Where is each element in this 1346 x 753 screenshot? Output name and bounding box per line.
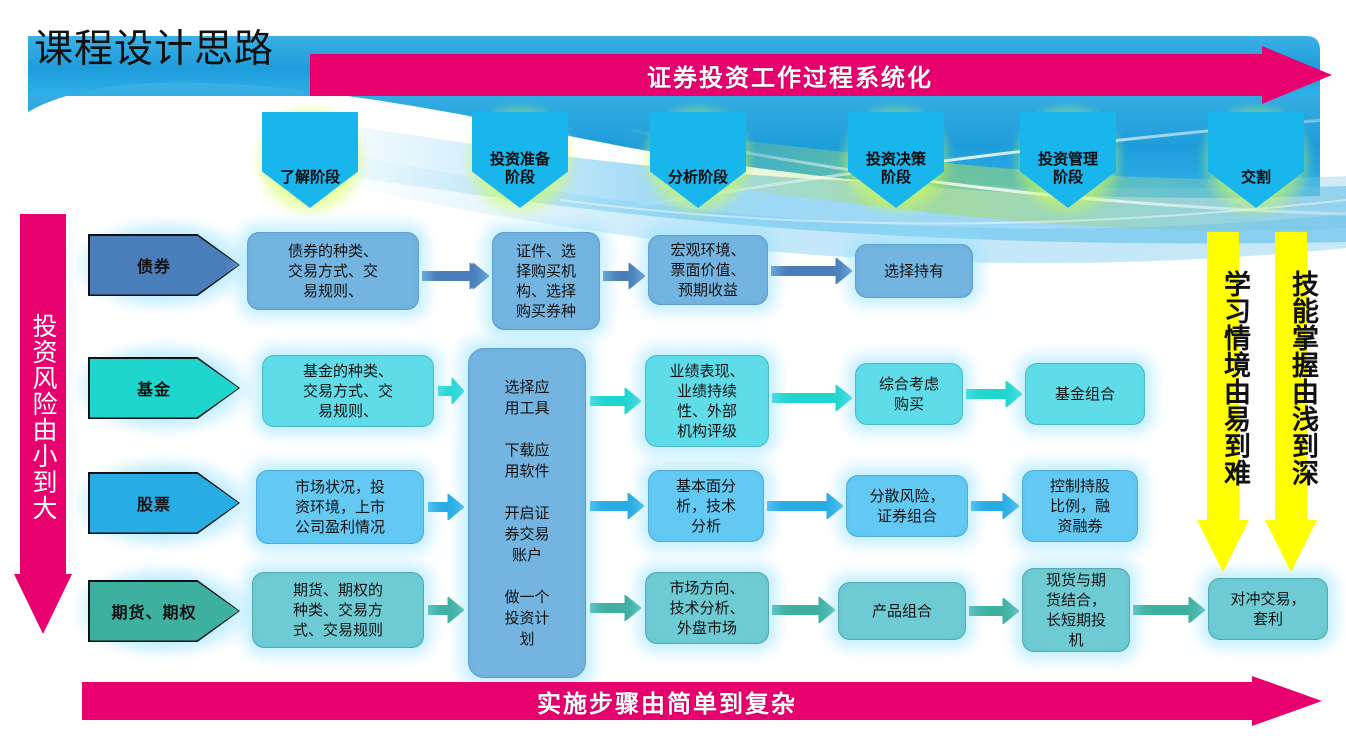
process-box-r2-4[interactable]: 基金组合 — [1025, 363, 1145, 425]
central-tools-label: 选择应 用工具 下载应 用软件 开启证 券交易 账户 做一个 投资计 划 — [504, 377, 549, 650]
box-label: 综合考虑 购买 — [879, 374, 939, 414]
stage-pentagon-6[interactable]: 交割 — [1208, 112, 1304, 208]
box-label: 业绩表现、 业绩持续 性、外部 机构评级 — [669, 361, 744, 441]
box-label: 证件、选 择购买机 构、选择 购买券种 — [516, 241, 576, 321]
box-label: 基金的种类、 交易方式、交 易规则、 — [303, 361, 393, 421]
right-banner-arrow-1: 学习情境由易到难 — [1197, 232, 1249, 572]
right-banner-label-2: 技能掌握由浅到深 — [1265, 248, 1317, 508]
process-box-r4-4[interactable]: 现货与期 货结合， 长短期投 机 — [1022, 568, 1130, 652]
connector-into-center-r3 — [428, 494, 464, 520]
central-tools-box[interactable]: 选择应 用工具 下载应 用软件 开启证 券交易 账户 做一个 投资计 划 — [468, 348, 586, 678]
process-box-r4-2[interactable]: 市场方向、 技术分析、 外盘市场 — [645, 572, 769, 644]
row-label-text: 股票 — [88, 472, 220, 534]
box-label: 选择持有 — [884, 261, 944, 281]
box-label: 对冲交易， 套利 — [1230, 589, 1305, 629]
stage-label: 交割 — [1208, 112, 1304, 190]
right-banner-label-1: 学习情境由易到难 — [1197, 248, 1249, 508]
stage-pentagon-1[interactable]: 了解阶段 — [262, 112, 358, 208]
process-box-r2-2[interactable]: 业绩表现、 业绩持续 性、外部 机构评级 — [645, 355, 769, 447]
connector-r2-3 — [966, 381, 1022, 407]
process-box-r1-4[interactable]: 选择持有 — [855, 244, 973, 298]
box-label: 期货、期权的 种类、交易方 式、交易规则 — [293, 580, 383, 640]
left-banner-label: 投资风险由小到大 — [14, 262, 72, 572]
slide-canvas: 课程设计思路 证券投资工作过程系统化 实施步骤由简单到复杂 投资风险由小到大 学… — [0, 0, 1346, 753]
box-label: 市场方向、 技术分析、 外盘市场 — [669, 578, 744, 638]
connector-r4-3 — [969, 598, 1019, 624]
connector-out-center-r2 — [590, 388, 641, 414]
box-label: 市场状况，投 资环境，上市 公司盈利情况 — [295, 477, 385, 537]
row-label-text: 期货、期权 — [88, 580, 220, 642]
row-label-pentagon-2[interactable]: 基金 — [88, 357, 240, 419]
process-box-r2-1[interactable]: 基金的种类、 交易方式、交 易规则、 — [262, 355, 434, 427]
box-label: 产品组合 — [872, 601, 932, 621]
stage-pentagon-2[interactable]: 投资准备 阶段 — [472, 112, 568, 208]
stage-label: 分析阶段 — [650, 112, 746, 190]
process-box-r2-3[interactable]: 综合考虑 购买 — [855, 363, 963, 425]
stage-pentagon-5[interactable]: 投资管理 阶段 — [1020, 112, 1116, 208]
connector-out-center-r3 — [590, 493, 644, 519]
process-box-r3-4[interactable]: 控制持股 比例，融 资融券 — [1022, 470, 1138, 542]
connector-r3-3 — [971, 493, 1019, 519]
process-box-r1-2[interactable]: 证件、选 择购买机 构、选择 购买券种 — [492, 232, 600, 330]
row-label-pentagon-3[interactable]: 股票 — [88, 472, 240, 534]
process-box-r3-1[interactable]: 市场状况，投 资环境，上市 公司盈利情况 — [256, 470, 424, 544]
box-label: 基金组合 — [1055, 384, 1115, 404]
row-label-text: 基金 — [88, 357, 220, 419]
left-banner-arrow: 投资风险由小到大 — [14, 214, 72, 634]
right-banner-arrow-2: 技能掌握由浅到深 — [1265, 232, 1317, 572]
process-box-r4-5[interactable]: 对冲交易， 套利 — [1208, 578, 1328, 640]
stage-pentagon-3[interactable]: 分析阶段 — [650, 112, 746, 208]
connector-r4-2 — [772, 597, 835, 623]
box-label: 现货与期 货结合， 长短期投 机 — [1046, 570, 1106, 650]
box-label: 控制持股 比例，融 资融券 — [1050, 476, 1110, 536]
top-banner-arrow: 证券投资工作过程系统化 — [310, 46, 1332, 104]
connector-r1-3 — [771, 258, 852, 284]
connector-r1-2 — [603, 263, 645, 289]
bottom-banner-label: 实施步骤由简单到复杂 — [82, 676, 1252, 726]
top-banner-label: 证券投资工作过程系统化 — [310, 46, 1270, 104]
row-label-pentagon-1[interactable]: 债券 — [88, 234, 240, 296]
stage-pentagon-4[interactable]: 投资决策 阶段 — [848, 112, 944, 208]
connector-r1-1 — [425, 263, 486, 289]
row-label-text: 债券 — [88, 234, 220, 296]
box-label: 宏观环境、 票面价值、 预期收益 — [670, 240, 745, 300]
process-box-r4-3[interactable]: 产品组合 — [838, 582, 966, 640]
process-box-r4-1[interactable]: 期货、期权的 种类、交易方 式、交易规则 — [252, 572, 424, 648]
bottom-banner-arrow: 实施步骤由简单到复杂 — [82, 676, 1322, 726]
box-label: 分散风险， 证券组合 — [869, 486, 944, 526]
box-label: 基本面分 析，技术 分析 — [676, 476, 736, 536]
process-box-r3-2[interactable]: 基本面分 析，技术 分析 — [648, 470, 764, 542]
process-box-r1-3[interactable]: 宏观环境、 票面价值、 预期收益 — [648, 235, 768, 305]
stage-label: 投资决策 阶段 — [848, 112, 944, 190]
process-box-r3-3[interactable]: 分散风险， 证券组合 — [846, 475, 968, 537]
connector-out-center-r4 — [590, 595, 641, 621]
stage-label: 投资准备 阶段 — [472, 112, 568, 190]
connector-into-center-r4 — [428, 597, 464, 623]
connector-r3-2 — [767, 493, 843, 519]
connector-r4-4 — [1133, 597, 1205, 623]
page-title: 课程设计思路 — [34, 24, 274, 76]
stage-label: 投资管理 阶段 — [1020, 112, 1116, 190]
row-label-pentagon-4[interactable]: 期货、期权 — [88, 580, 240, 642]
process-box-r1-1[interactable]: 债券的种类、 交易方式、交 易规则、 — [247, 232, 419, 310]
connector-r2-2 — [772, 385, 852, 411]
box-label: 债券的种类、 交易方式、交 易规则、 — [288, 241, 378, 301]
stage-label: 了解阶段 — [262, 112, 358, 190]
